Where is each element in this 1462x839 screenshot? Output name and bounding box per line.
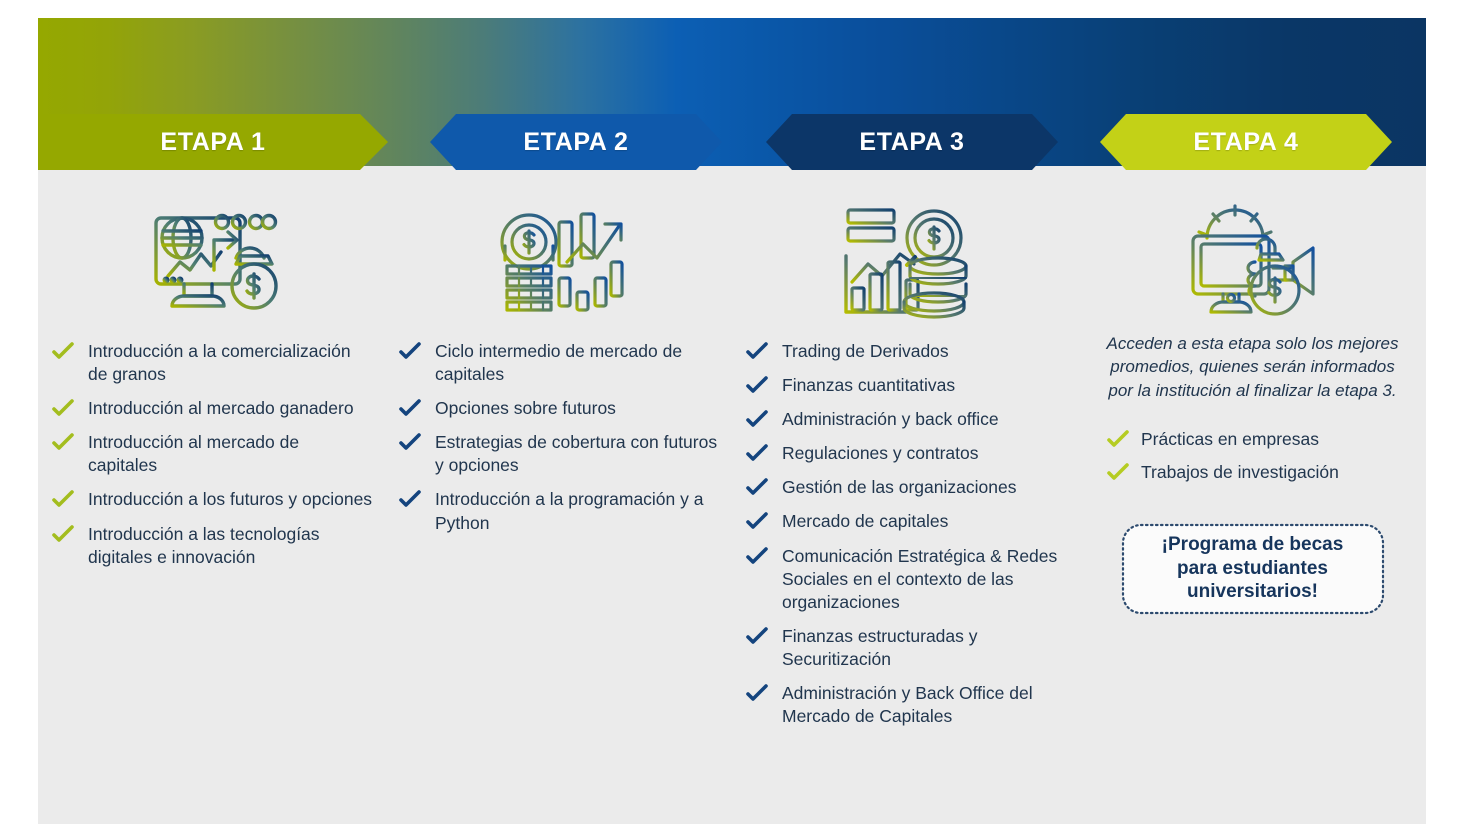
list-item-label: Introducción a los futuros y opciones [88, 489, 372, 509]
check-icon [51, 398, 75, 418]
check-icon [745, 546, 769, 566]
stage-2-item-list: Ciclo intermedio de mercado de capitales… [385, 340, 732, 535]
list-item-label: Administración y back office [782, 409, 999, 429]
list-item: Mercado de capitales [782, 510, 1067, 533]
stage-tab-1[interactable]: ETAPA 1 [38, 114, 388, 170]
list-item: Ciclo intermedio de mercado de capitales [435, 340, 720, 386]
monitor-gear-hand-moneybag-megaphone-icon [1079, 196, 1426, 326]
check-icon [398, 432, 422, 452]
list-item-label: Prácticas en empresas [1141, 429, 1319, 449]
list-item: Finanzas estructuradas y Securitización [782, 625, 1067, 671]
badge-line-1: ¡Programa de becas [1162, 533, 1344, 557]
list-item-label: Trading de Derivados [782, 341, 949, 361]
barchart-magnifier-coins-icon [732, 196, 1079, 326]
stage-columns: Introducción a la comercialización de gr… [38, 170, 1426, 824]
stage-3-item-list: Trading de Derivados Finanzas cuantitati… [732, 340, 1079, 728]
check-icon [51, 489, 75, 509]
list-item: Introducción al mercado de capitales [88, 431, 373, 477]
stage-tab-label-2: ETAPA 2 [523, 128, 628, 157]
stage-tab-label-1: ETAPA 1 [160, 128, 265, 157]
stage-4-note: Acceden a esta etapa solo los mejores pr… [1103, 332, 1402, 402]
stage-tabs: ETAPA 1 ETAPA 2 ETAPA 3 ETAPA 4 [38, 114, 1426, 170]
stage-tab-3[interactable]: ETAPA 3 [766, 114, 1058, 170]
check-icon [398, 398, 422, 418]
list-item: Trabajos de investigación [1141, 461, 1426, 484]
list-item-label: Ciclo intermedio de mercado de capitales [435, 341, 682, 384]
check-icon [745, 511, 769, 531]
stage-column-2: Ciclo intermedio de mercado de capitales… [385, 170, 732, 824]
list-item: Administración y back office [782, 408, 1067, 431]
list-item-label: Introducción a las tecnologías digitales… [88, 524, 320, 567]
check-icon [1106, 429, 1130, 449]
check-icon [51, 524, 75, 544]
badge-line-2: para estudiantes [1177, 557, 1328, 581]
list-item-label: Trabajos de investigación [1141, 462, 1339, 482]
check-icon [51, 341, 75, 361]
list-item: Finanzas cuantitativas [782, 374, 1067, 397]
check-icon [745, 409, 769, 429]
list-item: Regulaciones y contratos [782, 442, 1067, 465]
check-icon [745, 375, 769, 395]
stage-tab-label-4: ETAPA 4 [1193, 128, 1298, 157]
stage-1-item-list: Introducción a la comercialización de gr… [38, 340, 385, 569]
badge-line-3: universitarios! [1187, 580, 1318, 604]
list-item-label: Mercado de capitales [782, 511, 948, 531]
check-icon [745, 683, 769, 703]
list-item: Gestión de las organizaciones [782, 476, 1067, 499]
list-item: Introducción a los futuros y opciones [88, 488, 373, 511]
list-item: Introducción a la programación y a Pytho… [435, 488, 720, 534]
list-item: Administración y Back Office del Mercado… [782, 682, 1067, 728]
list-item: Comunicación Estratégica & Redes Sociale… [782, 545, 1067, 614]
infographic-canvas: ETAPA 1 ETAPA 2 ETAPA 3 ETAPA 4 [0, 0, 1462, 839]
stage-tab-2[interactable]: ETAPA 2 [430, 114, 722, 170]
list-item-label: Opciones sobre futuros [435, 398, 616, 418]
check-icon [1106, 462, 1130, 482]
stage-4-item-list: Prácticas en empresas Trabajos de invest… [1079, 428, 1426, 484]
list-item-label: Regulaciones y contratos [782, 443, 979, 463]
list-item-label: Introducción a la comercialización de gr… [88, 341, 351, 384]
list-item-label: Introducción a la programación y a Pytho… [435, 489, 703, 532]
check-icon [745, 626, 769, 646]
stage-column-1: Introducción a la comercialización de gr… [38, 170, 385, 824]
monitor-globe-chart-moneybag-icon [38, 196, 385, 326]
stage-column-4: Acceden a esta etapa solo los mejores pr… [1079, 170, 1426, 824]
list-item: Introducción a la comercialización de gr… [88, 340, 373, 386]
stage-column-3: Trading de Derivados Finanzas cuantitati… [732, 170, 1079, 824]
list-item: Introducción al mercado ganadero [88, 397, 373, 420]
list-item-label: Administración y Back Office del Mercado… [782, 683, 1033, 726]
stage-tab-label-3: ETAPA 3 [859, 128, 964, 157]
badge-text-block: ¡Programa de becas para estudiantes univ… [1119, 521, 1387, 617]
check-icon [398, 341, 422, 361]
coins-candlestick-arrow-icon [385, 196, 732, 326]
list-item: Prácticas en empresas [1141, 428, 1426, 451]
list-item-label: Finanzas cuantitativas [782, 375, 955, 395]
list-item-label: Introducción al mercado de capitales [88, 432, 299, 475]
list-item: Estrategias de cobertura con futuros y o… [435, 431, 720, 477]
list-item: Opciones sobre futuros [435, 397, 720, 420]
check-icon [51, 432, 75, 452]
check-icon [745, 477, 769, 497]
list-item-label: Comunicación Estratégica & Redes Sociale… [782, 546, 1057, 612]
list-item-label: Introducción al mercado ganadero [88, 398, 354, 418]
scholarship-badge[interactable]: ¡Programa de becas para estudiantes univ… [1119, 521, 1387, 617]
list-item-label: Estrategias de cobertura con futuros y o… [435, 432, 717, 475]
check-icon [745, 341, 769, 361]
check-icon [745, 443, 769, 463]
list-item: Introducción a las tecnologías digitales… [88, 523, 373, 569]
list-item-label: Finanzas estructuradas y Securitización [782, 626, 978, 669]
check-icon [398, 489, 422, 509]
list-item-label: Gestión de las organizaciones [782, 477, 1016, 497]
list-item: Trading de Derivados [782, 340, 1067, 363]
stage-tab-4[interactable]: ETAPA 4 [1100, 114, 1392, 170]
